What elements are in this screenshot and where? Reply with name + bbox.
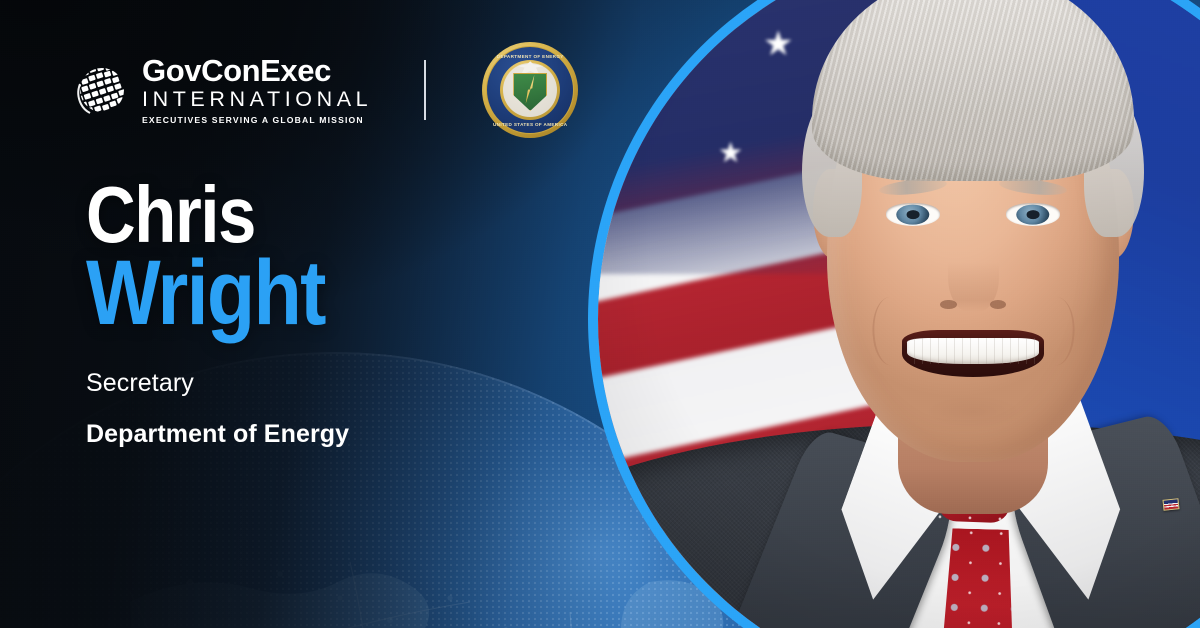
promo-card: ★ ★ ★ ★ [0,0,1200,628]
globe-grid-icon-svg [72,62,128,118]
seal-text-top: DEPARTMENT OF ENERGY [487,54,573,59]
department-of-energy-seal-icon: DEPARTMENT OF ENERGY UNITED STATES OF AM… [482,42,578,138]
seal-text-bottom: UNITED STATES OF AMERICA [487,122,573,127]
globe-grid-icon [72,62,128,118]
logo-subtitle: INTERNATIONAL [142,89,372,111]
headline-block: Chris Wright Secretary Department of Ene… [86,180,364,449]
vertical-divider [424,60,426,120]
govconexec-logo[interactable]: GovConExec INTERNATIONAL EXECUTIVES SERV… [72,55,372,124]
person-title: Secretary [86,369,364,398]
person-last-name: Wright [86,252,325,335]
logo-name: GovConExec [142,55,372,86]
brand-bar: GovConExec INTERNATIONAL EXECUTIVES SERV… [72,42,578,138]
person-organization: Department of Energy [86,420,364,449]
logo-tagline: EXECUTIVES SERVING A GLOBAL MISSION [142,116,372,125]
logo-wordmark: GovConExec INTERNATIONAL EXECUTIVES SERV… [142,55,372,124]
person-first-name: Chris [86,180,325,250]
